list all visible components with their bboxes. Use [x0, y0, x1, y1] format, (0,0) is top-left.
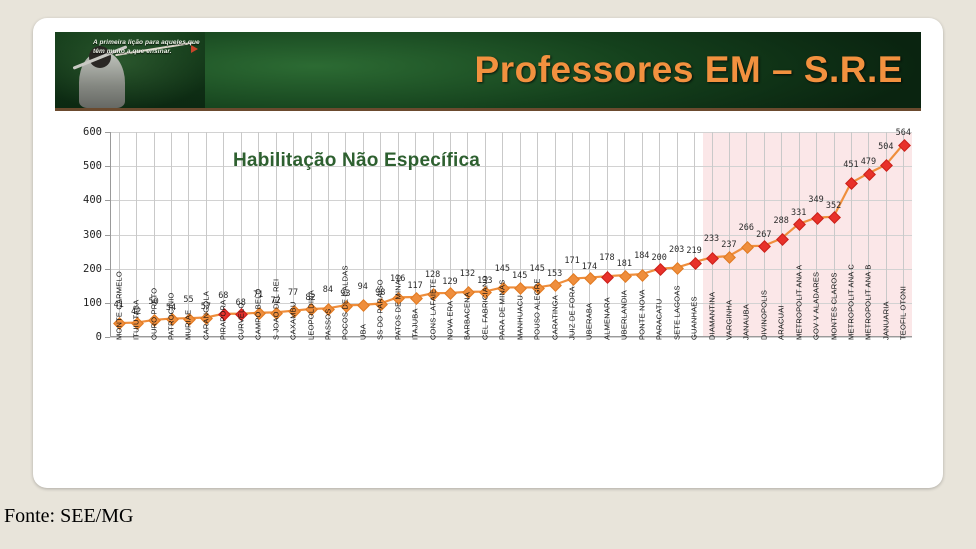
- page-title: Professores EM – S.R.E: [475, 49, 903, 91]
- x-axis-category-label: UBERABA: [585, 303, 594, 340]
- data-point-label: 504: [878, 142, 893, 152]
- data-point-label: 219: [686, 246, 701, 256]
- data-point-label: 267: [756, 230, 771, 240]
- data-point-label: 184: [634, 251, 649, 261]
- x-axis-category-label: BARBACENA: [463, 292, 472, 340]
- chart-container: 0100200300400500600414250545557686871727…: [55, 122, 921, 474]
- y-axis-label: 400: [83, 194, 102, 206]
- data-point-label: 84: [323, 285, 333, 295]
- x-axis-category-label: ITAJUBA: [411, 308, 420, 340]
- y-axis-label: 500: [83, 160, 102, 172]
- x-axis-category-label: METROPOLIT ANA B: [864, 264, 873, 340]
- x-axis-category-label: DIAMANTINA: [707, 292, 716, 340]
- data-point-label: 117: [407, 281, 422, 291]
- data-point-label: 132: [460, 269, 475, 279]
- x-axis-category-label: PASSOS: [323, 309, 332, 341]
- y-axis-label: 600: [83, 126, 102, 138]
- x-axis-category-label: METROPOLIT ANA C: [846, 264, 855, 340]
- x-axis-category-label: S JOAO DEL REI: [271, 279, 280, 340]
- data-point-label: 129: [442, 277, 457, 287]
- banner-slogan: A primeira lição para aqueles que têm mu…: [93, 38, 213, 57]
- data-point-label: 349: [808, 195, 823, 205]
- data-point-label: 55: [183, 295, 193, 305]
- chart-series-line: [110, 132, 912, 337]
- data-point-label: 178: [599, 253, 614, 263]
- x-axis-category-label: CARANGOLA: [201, 291, 210, 340]
- x-axis-category-label: MONTES CLAROS: [829, 272, 838, 340]
- x-axis-category-label: MONTE CARMELO: [114, 271, 123, 340]
- x-axis-category-label: JANAUBA: [742, 304, 751, 340]
- y-axis-label: 100: [83, 297, 102, 309]
- data-point-label: 288: [774, 216, 789, 226]
- data-point-label: 451: [843, 160, 858, 170]
- data-point-label: 200: [652, 253, 667, 263]
- x-axis-category-label: PARA DE MINAS: [498, 280, 507, 340]
- x-axis-category-label: ALMENARA: [602, 297, 611, 340]
- x-axis-category-label: ARACUAI: [777, 305, 786, 340]
- x-axis-category-label: PIRAPORA: [219, 300, 228, 340]
- data-point-label: 94: [358, 282, 368, 292]
- data-point-label: 174: [582, 262, 597, 272]
- data-point-label: 233: [704, 234, 719, 244]
- data-point-label: 479: [861, 157, 876, 167]
- x-axis-category-label: VARGINHA: [724, 300, 733, 340]
- x-axis-category-label: JANUARIA: [881, 301, 890, 340]
- data-point-label: 145: [529, 264, 544, 274]
- x-axis-category-label: GUANHAES: [690, 296, 699, 340]
- chart-gridline: [110, 337, 912, 338]
- data-point-label: 145: [495, 264, 510, 274]
- y-axis-label: 200: [83, 263, 102, 275]
- x-axis-category-label: UBERLANDIA: [620, 290, 629, 340]
- x-axis-category-label: MANHUACU: [515, 295, 524, 340]
- data-point-label: 331: [791, 208, 806, 218]
- source-note: Fonte: SEE/MG: [4, 505, 133, 528]
- x-axis-category-label: CARATINGA: [550, 295, 559, 340]
- x-axis-category-label: PATROCINIO: [167, 292, 176, 340]
- data-point-label: 171: [564, 256, 579, 266]
- x-axis-category-label: CAXAMBU: [289, 302, 298, 341]
- x-axis-category-label: ITUIUTABA: [132, 300, 141, 340]
- data-point-label: 145: [512, 271, 527, 281]
- x-axis-category-label: DIVINOPOLIS: [759, 290, 768, 340]
- data-point-label: 203: [669, 245, 684, 255]
- x-axis-category-label: OURO PRETO: [149, 288, 158, 340]
- x-axis-category-label: GOV V ALADARES: [812, 272, 821, 340]
- chart-x-axis-labels: MONTE CARMELOITUIUTABAOURO PRETOPATROCIN…: [110, 340, 912, 468]
- x-axis-category-label: PONTE NOVA: [637, 289, 646, 340]
- x-axis-category-label: POCOS DE CALDAS: [341, 265, 350, 340]
- y-axis-label: 0: [96, 331, 102, 343]
- slide-card: A primeira lição para aqueles que têm mu…: [33, 18, 943, 488]
- x-axis-category-label: JUIZ DE FORA: [568, 286, 577, 340]
- x-axis-category-label: SS DO PARAISO: [376, 279, 385, 340]
- x-axis-category-label: CEL FABRICIANO: [480, 275, 489, 340]
- x-axis-category-label: UBA: [358, 324, 367, 340]
- x-axis-category-label: POUSO ALEGRE: [533, 278, 542, 340]
- chart-plot-area: 0100200300400500600414250545557686871727…: [110, 132, 912, 337]
- data-point-label: 237: [721, 240, 736, 250]
- x-axis-category-label: CAMPO BELO: [254, 288, 263, 340]
- data-point-label: 181: [617, 259, 632, 269]
- x-axis-category-label: LEOPOLDINA: [306, 290, 315, 340]
- x-axis-category-label: PARACATU: [655, 299, 664, 340]
- x-axis-category-label: METROPOLIT ANA A: [794, 265, 803, 340]
- data-point-label: 153: [547, 269, 562, 279]
- y-axis-label: 300: [83, 229, 102, 241]
- x-axis-category-label: CONS LAFAIETE: [428, 279, 437, 340]
- x-axis-category-label: SETE LAGOAS: [672, 285, 681, 340]
- data-point-label: 352: [826, 201, 841, 211]
- x-axis-category-label: MURIAE: [184, 310, 193, 340]
- y-axis-tick: [105, 337, 110, 338]
- x-axis-category-label: PATOS DE MINAS: [393, 275, 402, 340]
- data-point-label: 266: [739, 223, 754, 233]
- chart-title: Habilitação Não Específica: [233, 150, 480, 172]
- x-axis-category-label: CURVELO: [236, 302, 245, 340]
- data-point-label: 564: [896, 128, 911, 138]
- x-axis-category-label: TEOFIL OTONI: [899, 286, 908, 340]
- data-point-label: 77: [288, 288, 298, 298]
- header-banner: A primeira lição para aqueles que têm mu…: [55, 32, 921, 111]
- x-axis-category-label: NOVA ERA: [445, 301, 454, 340]
